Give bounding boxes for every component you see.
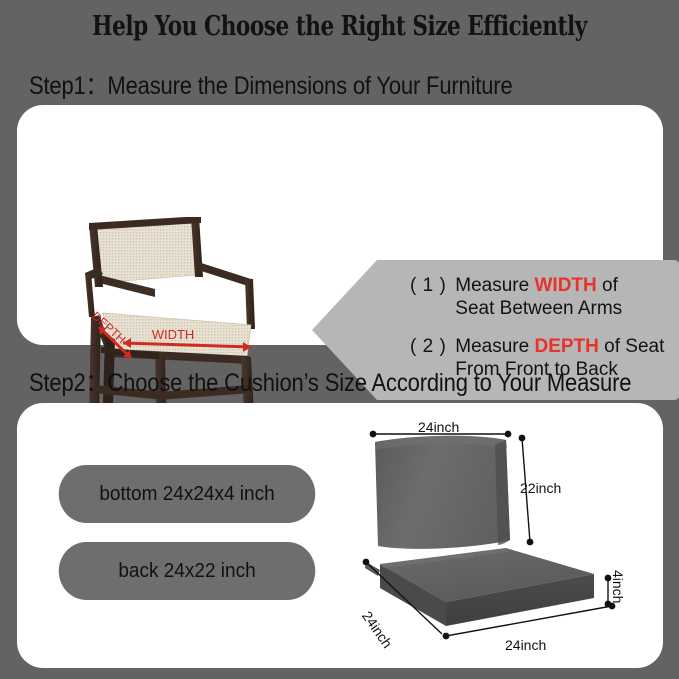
dim-label-back-height: 22inch [520, 480, 561, 496]
instruction-2-line1-pre: Measure [455, 336, 534, 357]
instruction-2-number: ( 2 ) [410, 335, 446, 358]
step1-heading: Step1：Measure the Dimensions of Your Fur… [29, 66, 513, 102]
step2-heading: Step2：Choose the Cushion’s Size Accordin… [29, 363, 631, 399]
dim-label-seat-width: 24inch [505, 637, 546, 653]
instruction-1-text: Measure WIDTH of Seat Between Arms [455, 274, 622, 320]
instruction-1-highlight: WIDTH [534, 275, 596, 296]
page-title: Help You Choose the Right Size Efficient… [68, 11, 611, 42]
instruction-1-number: ( 1 ) [410, 274, 446, 297]
instruction-1-line1-post: of [597, 275, 618, 296]
size-pill-back: back 24x22 inch [59, 542, 316, 600]
cushion-diagram [358, 412, 658, 664]
instruction-item-1: ( 1 ) Measure WIDTH of Seat Between Arms [410, 274, 622, 320]
dim-label-back-width: 24inch [418, 419, 459, 435]
chair-width-label: WIDTH [152, 327, 195, 342]
instruction-2-highlight: DEPTH [534, 336, 598, 357]
instruction-2-line1-post: of Seat [599, 336, 665, 357]
size-pill-bottom: bottom 24x24x4 inch [59, 465, 316, 523]
instruction-1-line1-pre: Measure [455, 275, 534, 296]
dim-label-seat-thickness: 4inch [610, 570, 626, 603]
instruction-1-line2: Seat Between Arms [455, 298, 622, 319]
step1-panel: WIDTH DEPTH ( 1 ) Measure WIDTH of Seat … [17, 105, 663, 345]
